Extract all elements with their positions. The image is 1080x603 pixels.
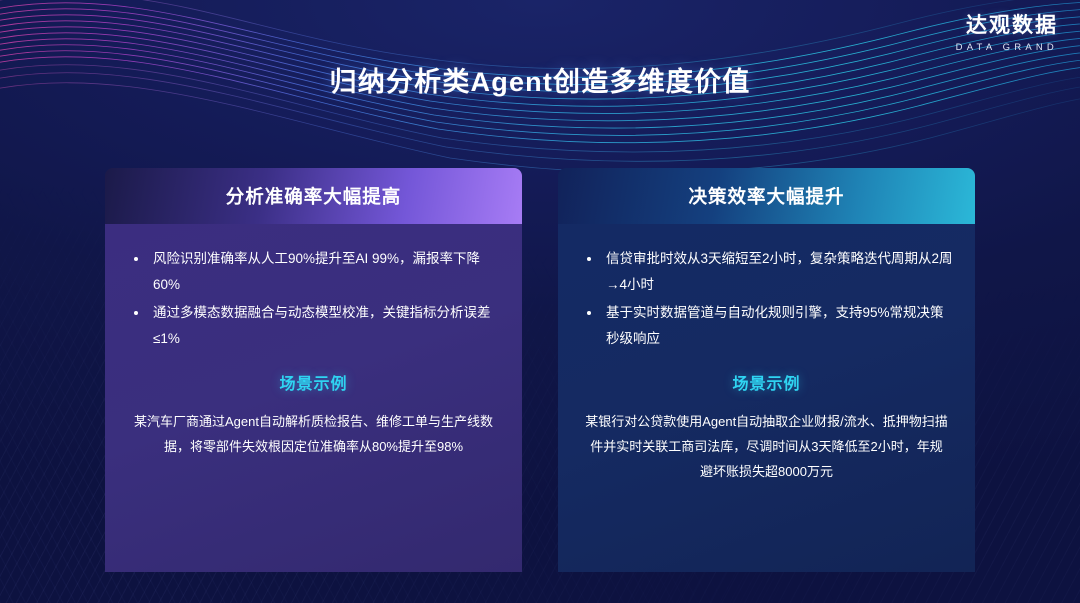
logo-english-name: DATA GRAND bbox=[956, 42, 1058, 53]
list-item: 风险识别准确率从人工90%提升至AI 99%，漏报率下降60% bbox=[127, 246, 500, 298]
bullet-list-analysis-accuracy: 风险识别准确率从人工90%提升至AI 99%，漏报率下降60% 通过多模态数据融… bbox=[127, 246, 500, 352]
example-body-analysis-accuracy: 某汽车厂商通过Agent自动解析质检报告、维修工单与生产线数据，将零部件失效根因… bbox=[127, 409, 500, 460]
page-title: 归纳分析类Agent创造多维度价值 bbox=[0, 60, 1080, 99]
card-header-decision-efficiency: 决策效率大幅提升 bbox=[558, 168, 975, 224]
value-cards-container: 分析准确率大幅提高 风险识别准确率从人工90%提升至AI 99%，漏报率下降60… bbox=[105, 168, 975, 572]
list-item: 信贷审批时效从3天缩短至2小时，复杂策略迭代周期从2周→4小时 bbox=[580, 246, 953, 298]
example-title-decision-efficiency: 场景示例 bbox=[580, 370, 953, 394]
card-header-analysis-accuracy: 分析准确率大幅提高 bbox=[105, 168, 522, 224]
example-body-decision-efficiency: 某银行对公贷款使用Agent自动抽取企业财报/流水、抵押物扫描件并实时关联工商司… bbox=[580, 409, 953, 485]
list-item: 通过多模态数据融合与动态模型校准，关键指标分析误差≤1% bbox=[127, 300, 500, 352]
card-analysis-accuracy: 分析准确率大幅提高 风险识别准确率从人工90%提升至AI 99%，漏报率下降60… bbox=[105, 168, 522, 572]
card-decision-efficiency: 决策效率大幅提升 信贷审批时效从3天缩短至2小时，复杂策略迭代周期从2周→4小时… bbox=[558, 168, 975, 572]
bullet-list-decision-efficiency: 信贷审批时效从3天缩短至2小时，复杂策略迭代周期从2周→4小时 基于实时数据管道… bbox=[580, 246, 953, 352]
slide-canvas: 达观数据 DATA GRAND 归纳分析类Agent创造多维度价值 分析准确率大… bbox=[0, 0, 1080, 603]
card-body-analysis-accuracy: 风险识别准确率从人工90%提升至AI 99%，漏报率下降60% 通过多模态数据融… bbox=[105, 224, 522, 572]
logo-chinese-name: 达观数据 bbox=[956, 14, 1058, 38]
list-item: 基于实时数据管道与自动化规则引擎，支持95%常规决策秒级响应 bbox=[580, 300, 953, 352]
card-body-decision-efficiency: 信贷审批时效从3天缩短至2小时，复杂策略迭代周期从2周→4小时 基于实时数据管道… bbox=[558, 224, 975, 572]
brand-logo: 达观数据 DATA GRAND bbox=[956, 14, 1058, 53]
example-title-analysis-accuracy: 场景示例 bbox=[127, 370, 500, 394]
